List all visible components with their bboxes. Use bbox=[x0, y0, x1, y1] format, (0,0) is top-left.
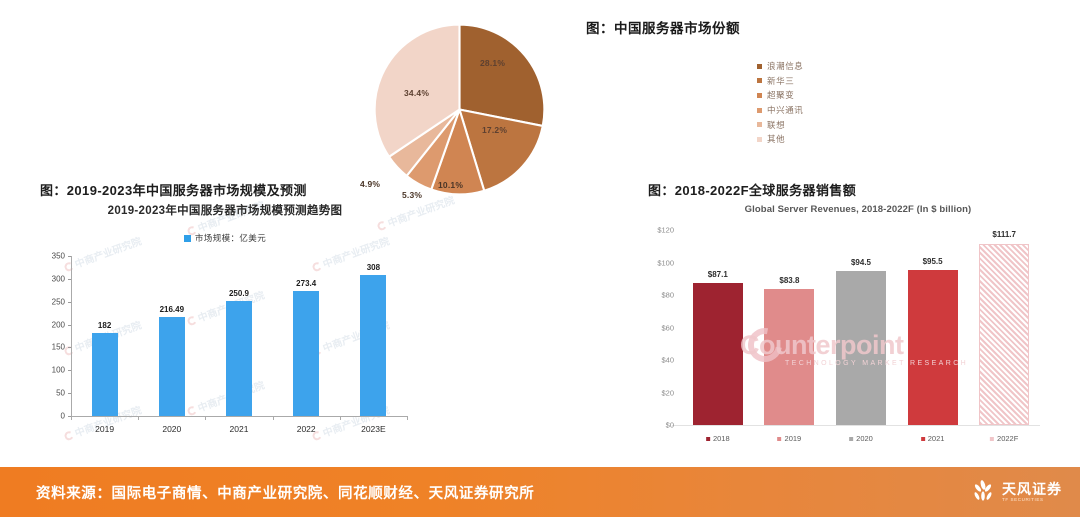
right-bar-value-2019: $83.8 bbox=[779, 276, 799, 285]
right-bar-2022F[interactable] bbox=[979, 244, 1029, 426]
pie-legend-label-4: 联想 bbox=[767, 119, 785, 131]
left-bar-2021[interactable] bbox=[226, 301, 252, 416]
pie-chart-legend: 浪潮信息新华三超聚变中兴通讯联想其他 bbox=[757, 59, 803, 147]
left-y-tick-label-0: 0 bbox=[61, 412, 65, 421]
left-bar-value-2020: 216.49 bbox=[160, 305, 184, 314]
right-y-tick-label-6: $120 bbox=[657, 226, 674, 235]
right-legend-item-2018[interactable]: 2018 bbox=[706, 434, 730, 443]
right-bar-2021[interactable] bbox=[908, 270, 958, 425]
pie-label-5: 34.4% bbox=[404, 88, 429, 98]
pie-label-1: 17.2% bbox=[482, 125, 507, 135]
pie-label-2: 10.1% bbox=[438, 180, 463, 190]
left-y-tick-label-3: 150 bbox=[52, 343, 65, 352]
right-y-tick-label-3: $60 bbox=[661, 323, 674, 332]
pie-legend-label-3: 中兴通讯 bbox=[767, 104, 803, 116]
pie-chart-title: 图：中国服务器市场份额 bbox=[586, 17, 740, 37]
right-bar-value-2022F: $111.7 bbox=[992, 230, 1016, 239]
pie-label-0: 28.1% bbox=[480, 58, 505, 68]
pie-legend-swatch-3 bbox=[757, 108, 762, 113]
counterpoint-watermark: Counterpoint bbox=[740, 330, 903, 361]
pie-chart: 28.1% 17.2% 10.1% 5.3% 4.9% 34.4% bbox=[372, 22, 547, 197]
pie-legend-swatch-0 bbox=[757, 64, 762, 69]
legend-swatch-market-size bbox=[184, 235, 191, 242]
left-x-tick-0 bbox=[71, 416, 72, 420]
right-baseline bbox=[672, 425, 1040, 426]
brand-name-en: TF SECURITIES bbox=[1002, 498, 1062, 503]
right-legend-label-2: 2020 bbox=[856, 434, 873, 443]
pie-legend-label-5: 其他 bbox=[767, 133, 785, 145]
right-legend-swatch-4 bbox=[990, 437, 994, 441]
right-legend-item-2021[interactable]: 2021 bbox=[921, 434, 945, 443]
left-category-2019: 2019 bbox=[95, 424, 114, 434]
right-bar-chart: Global Server Revenues, 2018-2022F (In $… bbox=[628, 198, 1058, 453]
right-bar-value-2021: $95.5 bbox=[923, 257, 943, 266]
source-text: 资料来源：国际电子商情、中商产业研究院、同花顺财经、天风证券研究所 bbox=[36, 482, 534, 503]
pie-legend-item-5[interactable]: 其他 bbox=[757, 132, 803, 147]
left-x-tick-2 bbox=[205, 416, 206, 420]
left-chart-legend: 市场规模：亿美元 bbox=[25, 232, 425, 244]
right-chart-title: Global Server Revenues, 2018-2022F (In $… bbox=[668, 204, 1048, 215]
brand-logo-text: 天风证券 TF SECURITIES bbox=[1002, 482, 1062, 503]
pie-legend-item-3[interactable]: 中兴通讯 bbox=[757, 103, 803, 118]
left-y-tick-mark-1 bbox=[68, 393, 71, 394]
left-bar-2022[interactable] bbox=[293, 291, 319, 416]
left-y-tick-mark-4 bbox=[68, 325, 71, 326]
left-x-tick-4 bbox=[340, 416, 341, 420]
pie-legend-label-2: 超聚变 bbox=[767, 89, 794, 101]
left-y-axis bbox=[71, 256, 72, 416]
left-y-tick-mark-7 bbox=[68, 256, 71, 257]
left-bar-2020[interactable] bbox=[159, 317, 185, 416]
left-x-tick-1 bbox=[138, 416, 139, 420]
right-y-tick-label-4: $80 bbox=[661, 291, 674, 300]
left-bar-2019[interactable] bbox=[92, 333, 118, 416]
left-category-2020: 2020 bbox=[162, 424, 181, 434]
right-legend-label-3: 2021 bbox=[928, 434, 945, 443]
left-category-2021: 2021 bbox=[230, 424, 249, 434]
pie-legend-swatch-2 bbox=[757, 93, 762, 98]
right-legend-label-4: 2022F bbox=[997, 434, 1018, 443]
right-chart-caption: 图：2018-2022F全球服务器销售额 bbox=[648, 180, 856, 199]
left-y-tick-label-2: 100 bbox=[52, 366, 65, 375]
pie-chart-block: 28.1% 17.2% 10.1% 5.3% 4.9% 34.4% bbox=[352, 6, 612, 206]
right-legend-swatch-1 bbox=[778, 437, 782, 441]
left-y-tick-mark-2 bbox=[68, 370, 71, 371]
left-x-tick-3 bbox=[273, 416, 274, 420]
right-bar-value-2020: $94.5 bbox=[851, 258, 871, 267]
pie-legend-label-0: 浪潮信息 bbox=[767, 60, 803, 72]
pie-legend-item-1[interactable]: 新华三 bbox=[757, 74, 803, 89]
pie-legend-swatch-5 bbox=[757, 137, 762, 142]
right-plot-area: $0$20$40$60$80$100$120 $87.1$83.8$94.5$9… bbox=[682, 230, 1040, 425]
left-bar-value-2022: 273.4 bbox=[296, 279, 316, 288]
pie-chart-svg bbox=[372, 22, 547, 197]
left-chart-title: 2019-2023年中国服务器市场规模预测趋势图 bbox=[25, 202, 425, 218]
right-y-tick-label-2: $40 bbox=[661, 356, 674, 365]
source-banner: 资料来源：国际电子商情、中商产业研究院、同花顺财经、天风证券研究所 天风证券 T bbox=[0, 467, 1080, 517]
left-y-tick-label-4: 200 bbox=[52, 320, 65, 329]
pie-legend-item-2[interactable]: 超聚变 bbox=[757, 88, 803, 103]
right-legend-item-2020[interactable]: 2020 bbox=[849, 434, 873, 443]
pie-legend-label-1: 新华三 bbox=[767, 75, 794, 87]
right-bar-2018[interactable] bbox=[693, 283, 743, 425]
right-bar-value-2018: $87.1 bbox=[708, 270, 728, 279]
left-category-2023E: 2023E bbox=[361, 424, 386, 434]
right-legend-swatch-3 bbox=[921, 437, 925, 441]
left-y-tick-label-5: 250 bbox=[52, 297, 65, 306]
left-bar-chart: 2019-2023年中国服务器市场规模预测趋势图 市场规模：亿美元 050100… bbox=[25, 198, 425, 453]
slide-canvas: 中商产业研究院 中商产业研究院 中商产业研究院 中商产业研究院 中商产业研究院 … bbox=[0, 0, 1080, 517]
left-y-tick-mark-3 bbox=[68, 347, 71, 348]
right-legend-label-0: 2018 bbox=[713, 434, 730, 443]
right-legend-swatch-2 bbox=[849, 437, 853, 441]
right-legend-swatch-0 bbox=[706, 437, 710, 441]
legend-label-market-size: 市场规模：亿美元 bbox=[195, 232, 266, 244]
right-y-tick-label-5: $100 bbox=[657, 258, 674, 267]
pie-label-4: 4.9% bbox=[360, 179, 380, 189]
counterpoint-watermark-sub: TECHNOLOGY MARKET RESEARCH bbox=[785, 360, 968, 367]
pie-slice-0 bbox=[460, 25, 545, 126]
right-legend-label-1: 2019 bbox=[785, 434, 802, 443]
left-bar-value-2021: 250.9 bbox=[229, 289, 249, 298]
right-legend-item-2022F[interactable]: 2022F bbox=[990, 434, 1018, 443]
left-y-tick-mark-5 bbox=[68, 302, 71, 303]
left-bar-value-2019: 182 bbox=[98, 321, 111, 330]
left-category-2022: 2022 bbox=[297, 424, 316, 434]
right-y-tick-label-0: $0 bbox=[666, 421, 674, 430]
left-x-tick-end bbox=[407, 416, 408, 420]
right-legend-item-2019[interactable]: 2019 bbox=[778, 434, 802, 443]
brand-name-cn: 天风证券 bbox=[1002, 482, 1062, 496]
pie-legend-item-0[interactable]: 浪潮信息 bbox=[757, 59, 803, 74]
left-y-tick-label-7: 350 bbox=[52, 252, 65, 261]
left-y-tick-label-6: 300 bbox=[52, 274, 65, 283]
right-y-tick-label-1: $20 bbox=[661, 388, 674, 397]
left-y-tick-mark-6 bbox=[68, 279, 71, 280]
brand-logo: 天风证券 TF SECURITIES bbox=[970, 479, 1062, 505]
pie-legend-swatch-4 bbox=[757, 122, 762, 127]
left-bar-value-2023E: 308 bbox=[367, 263, 380, 272]
left-chart-caption: 图：2019-2023年中国服务器市场规模及预测 bbox=[40, 180, 307, 199]
left-x-axis bbox=[71, 416, 407, 417]
left-plot-area: 050100150200250300350 182216.49250.9273.… bbox=[71, 256, 407, 416]
pie-legend-swatch-1 bbox=[757, 78, 762, 83]
left-bar-2023E[interactable] bbox=[360, 275, 386, 416]
pie-legend-item-4[interactable]: 联想 bbox=[757, 117, 803, 132]
left-y-tick-label-1: 50 bbox=[56, 389, 65, 398]
flower-icon bbox=[970, 479, 996, 505]
